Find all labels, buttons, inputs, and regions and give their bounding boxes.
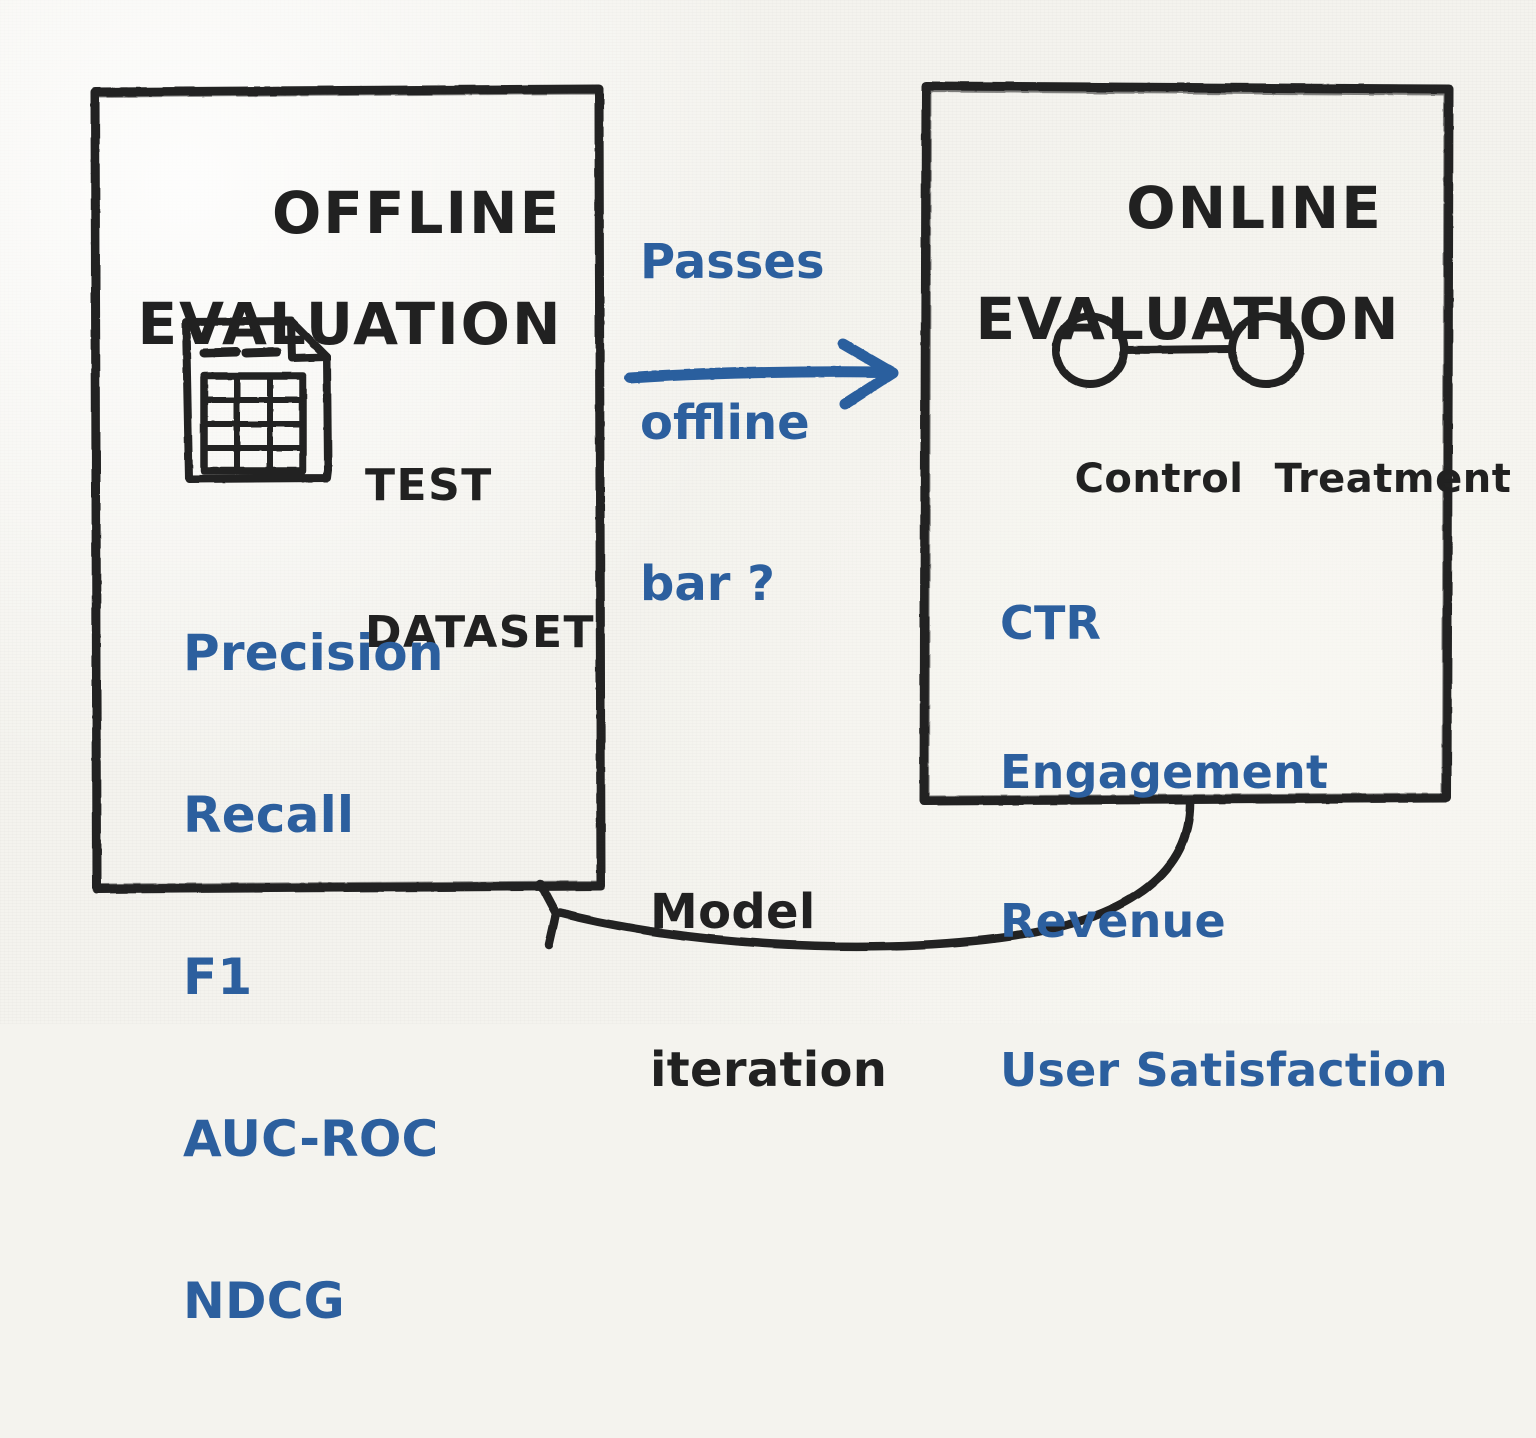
- offline-metric-item: AUC-ROC: [183, 1112, 444, 1166]
- passes-offline-bar-label: Passes offline bar ?: [640, 128, 890, 719]
- offline-metric-item: F1: [183, 950, 444, 1004]
- online-metric-item: Revenue: [1000, 897, 1448, 947]
- offline-title-line-1: OFFLINE: [272, 179, 561, 247]
- offline-title-line-2: EVALUATION: [110, 297, 590, 353]
- online-metric-item: User Satisfaction: [1000, 1046, 1448, 1096]
- online-title-line-2: EVALUATION: [942, 292, 1434, 348]
- online-metrics-list: CTR Engagement Revenue User Satisfaction: [1000, 500, 1448, 1195]
- online-metric-item: Engagement: [1000, 748, 1448, 798]
- online-title-line-1: ONLINE: [1126, 174, 1383, 242]
- feedback-label-line-1: Model: [650, 886, 887, 939]
- test-dataset-line-1: TEST: [365, 461, 595, 510]
- offline-metric-item: Precision: [183, 626, 444, 680]
- offline-metric-item: NDCG: [183, 1274, 444, 1328]
- online-box-title: ONLINE EVALUATION: [942, 125, 1434, 459]
- text-layer: OFFLINE EVALUATION TEST DATASET Precisio…: [0, 0, 1536, 1024]
- transition-label-line-2: offline: [640, 397, 890, 451]
- transition-label-line-3: bar ?: [640, 558, 890, 612]
- offline-metric-item: Recall: [183, 788, 444, 842]
- model-iteration-label: Model iteration: [650, 780, 887, 1202]
- online-metric-item: CTR: [1000, 599, 1448, 649]
- diagram-canvas: OFFLINE EVALUATION TEST DATASET Precisio…: [0, 0, 1536, 1024]
- offline-metrics-list: Precision Recall F1 AUC-ROC NDCG: [183, 518, 444, 1436]
- transition-label-line-1: Passes: [640, 236, 890, 290]
- feedback-label-line-2: iteration: [650, 1044, 887, 1097]
